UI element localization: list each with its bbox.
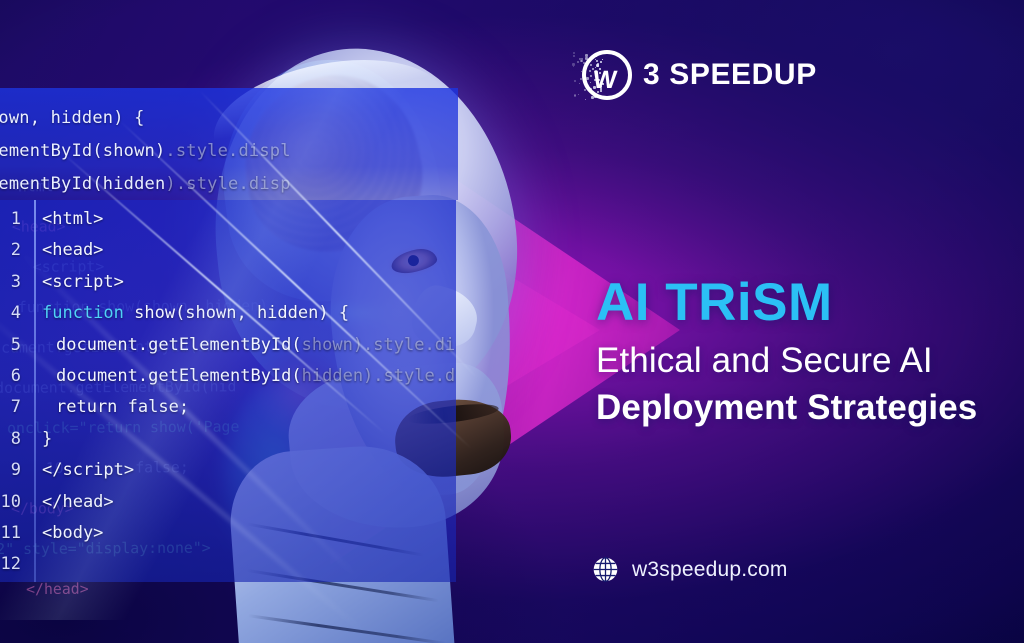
- vignette-overlay: [0, 0, 1024, 643]
- banner-canvas: 1 <html> <head> <script>function show(sh…: [0, 0, 1024, 643]
